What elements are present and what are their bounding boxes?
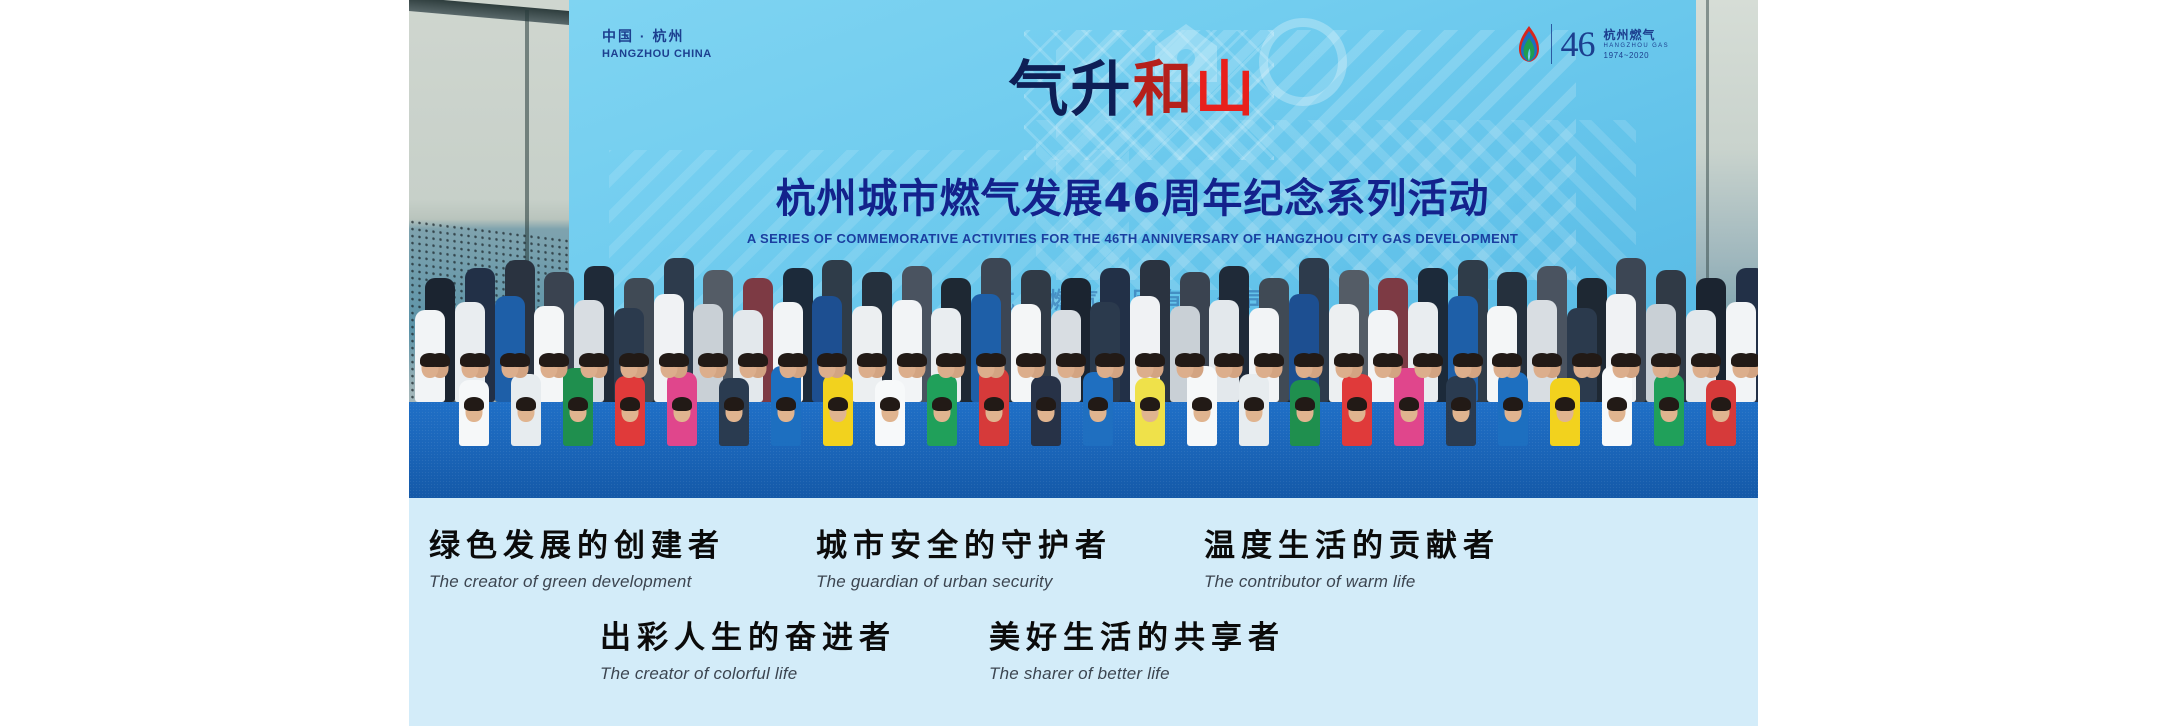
person-hair <box>1175 353 1195 367</box>
person-hair <box>1607 397 1627 411</box>
slogan-en: The guardian of urban security <box>816 571 1112 592</box>
person-hair <box>1555 397 1575 411</box>
slogan-item: 美好生活的共享者 The sharer of better life <box>989 620 1285 684</box>
person-hair <box>1659 397 1679 411</box>
person-hair <box>880 397 900 411</box>
calligraphy-char-2: 升 <box>1071 55 1133 125</box>
crowd <box>409 168 1758 498</box>
person-hair <box>1532 353 1552 367</box>
person-hair <box>976 353 996 367</box>
person-hair <box>698 353 718 367</box>
person-hair <box>1135 353 1155 367</box>
slogan-item: 城市安全的守护者 The guardian of urban security <box>816 528 1112 592</box>
person-hair <box>1651 353 1671 367</box>
slogan-item: 温度生活的贡献者 The contributor of warm life <box>1204 528 1500 592</box>
person-hair <box>1254 353 1274 367</box>
person-hair <box>619 353 639 367</box>
slogan-item: 出彩人生的奋进者 The creator of colorful life <box>600 620 896 684</box>
person-hair <box>1731 353 1751 367</box>
person-hair <box>1691 353 1711 367</box>
slogan-cn: 城市安全的守护者 <box>816 528 1112 564</box>
person-hair <box>857 353 877 367</box>
person-hair <box>620 397 640 411</box>
person-hair <box>1016 353 1036 367</box>
calligraphy-char-3: 和 <box>1133 55 1195 125</box>
person-hair <box>568 397 588 411</box>
person-hair <box>776 397 796 411</box>
person-hair <box>984 397 1004 411</box>
content-column: 中国 · 杭州 HANGZHOU CHINA 46 杭州燃气 HANGZHOU … <box>409 0 1758 726</box>
person-hair <box>1334 353 1354 367</box>
slogan-item: 绿色发展的创建者 The creator of green developmen… <box>429 528 725 592</box>
person-hair <box>516 397 536 411</box>
person-hair <box>1095 353 1115 367</box>
person-hair <box>1140 397 1160 411</box>
person-hair <box>420 353 440 367</box>
person-hair <box>1492 353 1512 367</box>
slogan-row-1: 绿色发展的创建者 The creator of green developmen… <box>409 528 1758 592</box>
logo-company-cn: 杭州燃气 <box>1604 29 1669 41</box>
logo-company-en: HANGZHOU GAS <box>1604 43 1669 49</box>
person-hair <box>464 397 484 411</box>
person-hair <box>1373 353 1393 367</box>
calligraphy-char-4: 山 <box>1195 55 1257 125</box>
person-hair <box>936 353 956 367</box>
locale-block: 中国 · 杭州 HANGZHOU CHINA <box>602 27 712 60</box>
person-hair <box>1711 397 1731 411</box>
slogan-en: The contributor of warm life <box>1204 571 1500 592</box>
logo-wordmark: 杭州燃气 HANGZHOU GAS 1974~2020 <box>1604 29 1669 60</box>
person-hair <box>897 353 917 367</box>
person-hair <box>1611 353 1631 367</box>
slogan-en: The creator of green development <box>429 571 725 592</box>
slogan-cn: 美好生活的共享者 <box>989 620 1285 656</box>
slogan-panel: 绿色发展的创建者 The creator of green developmen… <box>409 498 1758 726</box>
page-root: 中国 · 杭州 HANGZHOU CHINA 46 杭州燃气 HANGZHOU … <box>0 0 2179 726</box>
slogan-cn: 绿色发展的创建者 <box>429 528 725 564</box>
person-hair <box>932 397 952 411</box>
person-hair <box>1088 397 1108 411</box>
slogan-en: The creator of colorful life <box>600 663 896 684</box>
person-hair <box>828 397 848 411</box>
person-hair <box>500 353 520 367</box>
crowd-row-front <box>409 326 1758 446</box>
person-hair <box>778 353 798 367</box>
person-hair <box>1214 353 1234 367</box>
calligraphy-mark: 气升和山 <box>569 58 1696 122</box>
person-hair <box>1572 353 1592 367</box>
person-hair <box>1036 397 1056 411</box>
person-hair <box>1347 397 1367 411</box>
person-hair <box>1244 397 1264 411</box>
person-hair <box>1453 353 1473 367</box>
slogan-row-2: 出彩人生的奋进者 The creator of colorful life 美好… <box>409 620 1758 684</box>
balcony-rail <box>409 0 569 25</box>
person-hair <box>460 353 480 367</box>
slogan-cn: 温度生活的贡献者 <box>1204 528 1500 564</box>
person-hair <box>672 397 692 411</box>
slogan-en: The sharer of better life <box>989 663 1285 684</box>
person-hair <box>1294 353 1314 367</box>
person-hair <box>1399 397 1419 411</box>
person-hair <box>817 353 837 367</box>
locale-cn: 中国 · 杭州 <box>602 27 712 45</box>
person-hair <box>1056 353 1076 367</box>
person-hair <box>1192 397 1212 411</box>
slogan-cn: 出彩人生的奋进者 <box>600 620 896 656</box>
person-hair <box>659 353 679 367</box>
person-hair <box>539 353 559 367</box>
person-hair <box>1295 397 1315 411</box>
person-hair <box>738 353 758 367</box>
calligraphy-char-1: 气 <box>1009 55 1071 125</box>
group-photo: 中国 · 杭州 HANGZHOU CHINA 46 杭州燃气 HANGZHOU … <box>409 0 1758 498</box>
person-hair <box>1413 353 1433 367</box>
person-hair <box>724 397 744 411</box>
person-hair <box>1451 397 1471 411</box>
person-hair <box>579 353 599 367</box>
person-hair <box>1503 397 1523 411</box>
